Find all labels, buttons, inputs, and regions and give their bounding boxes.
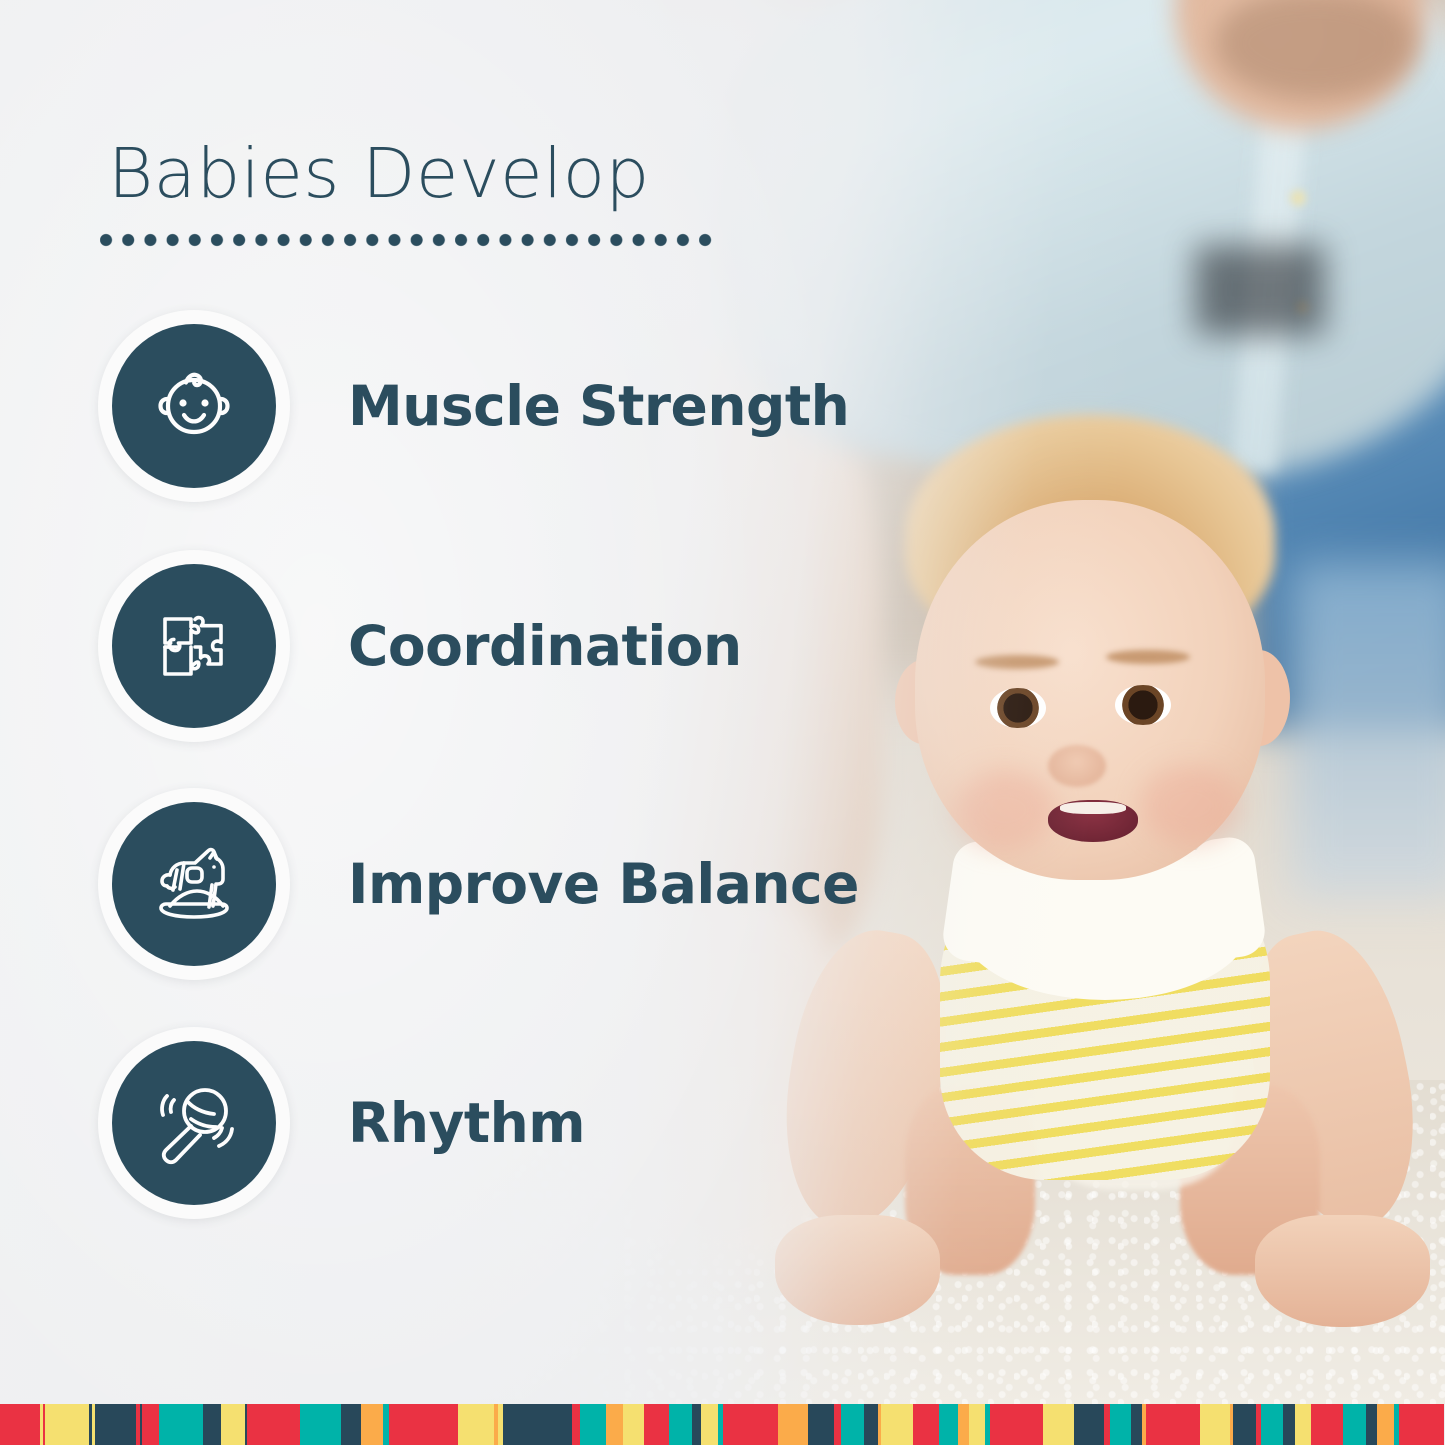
puzzle-pieces-icon bbox=[142, 594, 246, 698]
stripe-segment bbox=[881, 1404, 912, 1445]
badge-disc bbox=[112, 802, 276, 966]
benefit-row-rhythm[interactable]: Rhythm bbox=[98, 1027, 585, 1219]
stripe-segment bbox=[841, 1404, 865, 1445]
stripe-segment bbox=[623, 1404, 643, 1445]
stripe-segment bbox=[669, 1404, 693, 1445]
stripe-segment bbox=[1343, 1404, 1367, 1445]
stripe-segment bbox=[723, 1404, 778, 1445]
stripe-segment bbox=[1043, 1404, 1074, 1445]
stripe-segment bbox=[1366, 1404, 1377, 1445]
stripe-segment bbox=[913, 1404, 940, 1445]
stripe-segment bbox=[1399, 1404, 1444, 1445]
stripe-segment bbox=[701, 1404, 718, 1445]
benefit-badge bbox=[98, 310, 290, 502]
stripe-segment bbox=[1110, 1404, 1130, 1445]
stripe-segment bbox=[1233, 1404, 1257, 1445]
benefit-label: Rhythm bbox=[348, 1091, 585, 1155]
badge-disc bbox=[112, 564, 276, 728]
rocking-horse-icon bbox=[140, 830, 248, 938]
stripe-segment bbox=[808, 1404, 835, 1445]
benefit-row-coordination[interactable]: Coordination bbox=[98, 550, 742, 742]
stripe-segment bbox=[969, 1404, 985, 1445]
stripe-segment bbox=[142, 1404, 159, 1445]
stripe-segment bbox=[990, 1404, 1043, 1445]
baby-rattle-icon bbox=[141, 1070, 247, 1176]
stripe-segment bbox=[1146, 1404, 1199, 1445]
stripe-segment bbox=[0, 1404, 40, 1445]
stripe-segment bbox=[644, 1404, 669, 1445]
stripe-segment bbox=[300, 1404, 341, 1445]
stripe-segment bbox=[45, 1404, 89, 1445]
stripe-segment bbox=[392, 1404, 458, 1445]
stripe-segment bbox=[159, 1404, 203, 1445]
stripe-segment bbox=[1074, 1404, 1104, 1445]
stripe-segment bbox=[221, 1404, 245, 1445]
stripe-segment bbox=[606, 1404, 623, 1445]
benefit-row-muscle-strength[interactable]: Muscle Strength bbox=[98, 310, 849, 502]
benefit-row-improve-balance[interactable]: Improve Balance bbox=[98, 788, 859, 980]
stripe-segment bbox=[692, 1404, 701, 1445]
stripe-segment bbox=[503, 1404, 533, 1445]
stripe-segment bbox=[1261, 1404, 1283, 1445]
stripe-segment bbox=[1311, 1404, 1342, 1445]
color-stripe-bar bbox=[0, 1404, 1445, 1445]
stripe-segment bbox=[1283, 1404, 1296, 1445]
stripe-segment bbox=[458, 1404, 494, 1445]
stripe-segment bbox=[1377, 1404, 1394, 1445]
stripe-segment bbox=[95, 1404, 136, 1445]
stripe-segment bbox=[1295, 1404, 1311, 1445]
stripe-segment bbox=[572, 1404, 580, 1445]
stripe-segment bbox=[532, 1404, 571, 1445]
page-title: Babies Develop bbox=[108, 134, 650, 214]
stripe-segment bbox=[361, 1404, 383, 1445]
stripe-segment bbox=[1131, 1404, 1142, 1445]
stripe-segment bbox=[778, 1404, 808, 1445]
poster-canvas: Babies Develop bbox=[0, 0, 1445, 1445]
stripe-segment bbox=[341, 1404, 361, 1445]
stripe-segment bbox=[958, 1404, 969, 1445]
stripe-segment bbox=[939, 1404, 958, 1445]
benefit-badge bbox=[98, 788, 290, 980]
benefit-label: Coordination bbox=[348, 614, 742, 678]
benefit-badge bbox=[98, 550, 290, 742]
benefit-badge bbox=[98, 1027, 290, 1219]
content-layer: Babies Develop bbox=[0, 0, 1445, 1404]
stripe-segment bbox=[580, 1404, 607, 1445]
stripe-segment bbox=[203, 1404, 221, 1445]
benefit-label: Improve Balance bbox=[348, 852, 859, 916]
badge-disc bbox=[112, 324, 276, 488]
stripe-segment bbox=[249, 1404, 300, 1445]
dotted-divider bbox=[100, 231, 716, 249]
stripe-segment bbox=[1200, 1404, 1230, 1445]
baby-face-icon bbox=[142, 354, 246, 458]
benefit-label: Muscle Strength bbox=[348, 374, 849, 438]
stripe-segment bbox=[864, 1404, 878, 1445]
badge-disc bbox=[112, 1041, 276, 1205]
